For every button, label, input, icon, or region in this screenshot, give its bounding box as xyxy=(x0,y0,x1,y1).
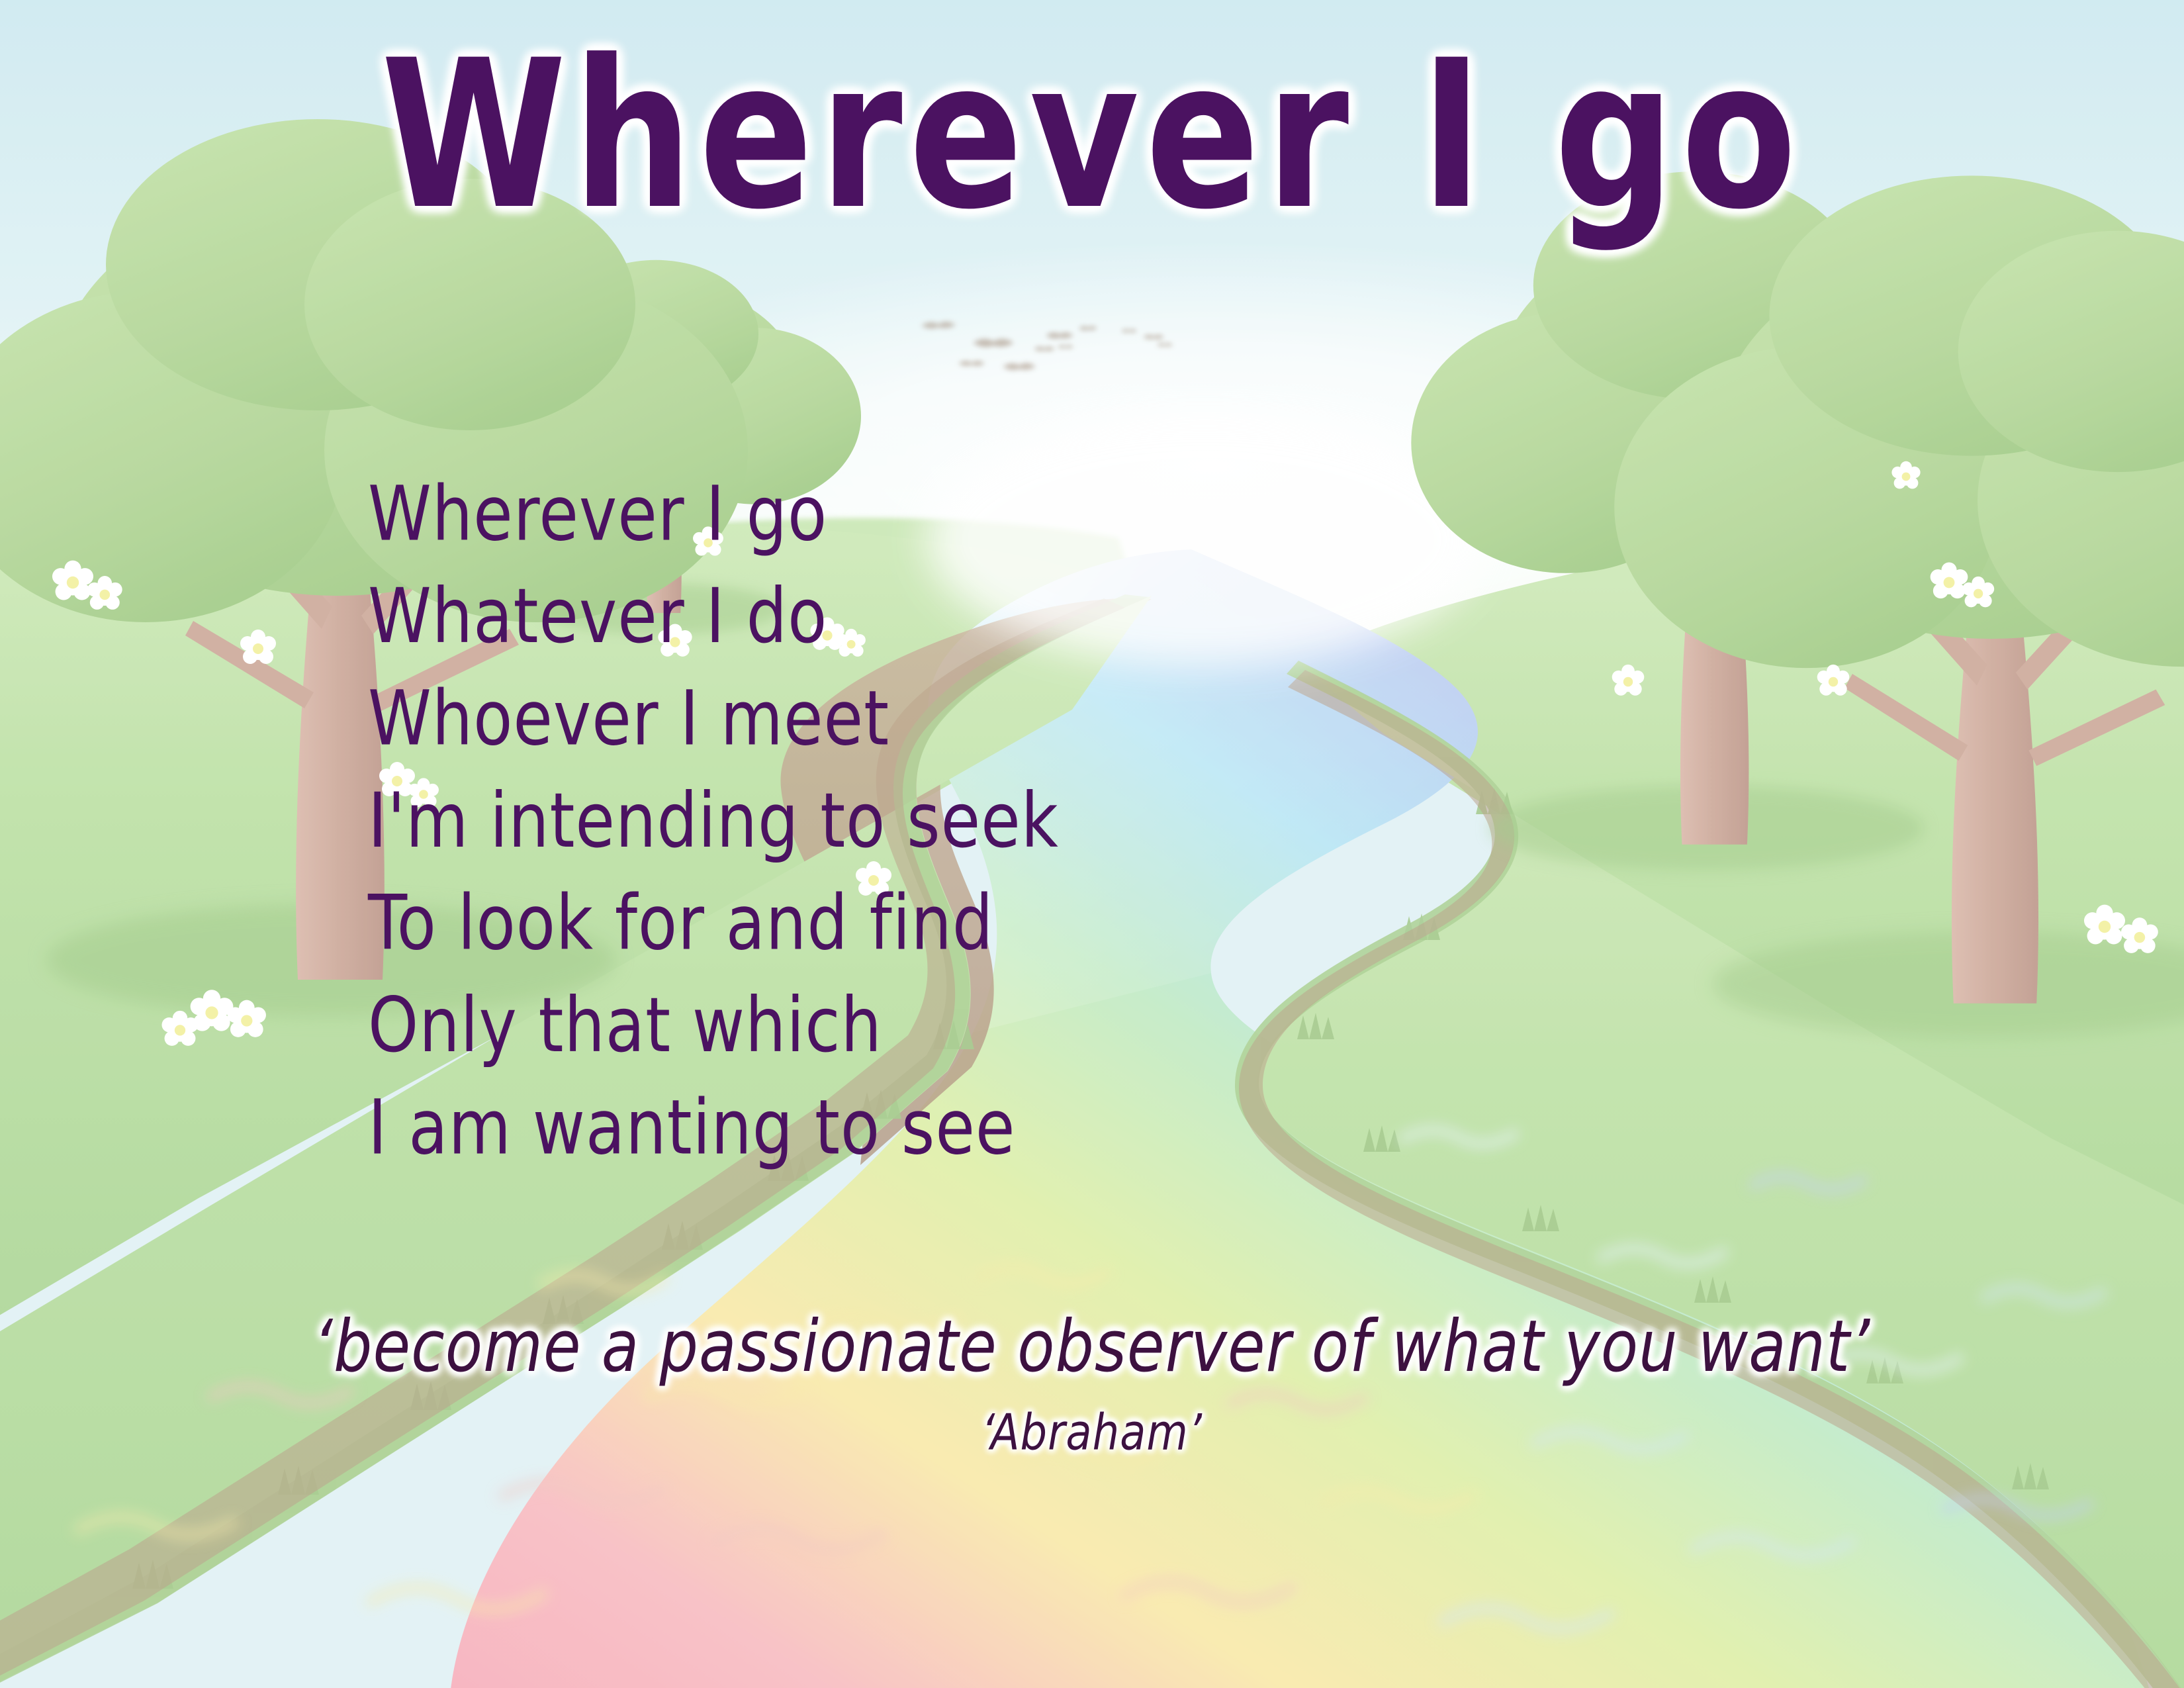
poem-line: I'm intending to seek xyxy=(368,771,1059,873)
poem-line: Wherever I go xyxy=(368,463,1059,566)
quote-attribution: ‘Abraham’ xyxy=(33,1403,2152,1462)
page-title: Wherever I go xyxy=(33,28,2152,243)
poem-line: To look for and find xyxy=(368,872,1059,975)
poem-line: Whoever I meet xyxy=(368,668,1059,771)
text-layer: Wherever I go Wherever I go Whatever I d… xyxy=(0,0,2184,1688)
poem-line: I am wanting to see xyxy=(368,1077,1059,1180)
quote-text: ‘become a passionate observer of what yo… xyxy=(33,1305,2152,1388)
poem-line: Whatever I do xyxy=(368,566,1059,669)
poster-canvas: Wherever I go Wherever I go Whatever I d… xyxy=(0,0,2184,1688)
poem-line: Only that which xyxy=(368,975,1059,1078)
poem-block: Wherever I go Whatever I do Whoever I me… xyxy=(368,463,1059,1180)
